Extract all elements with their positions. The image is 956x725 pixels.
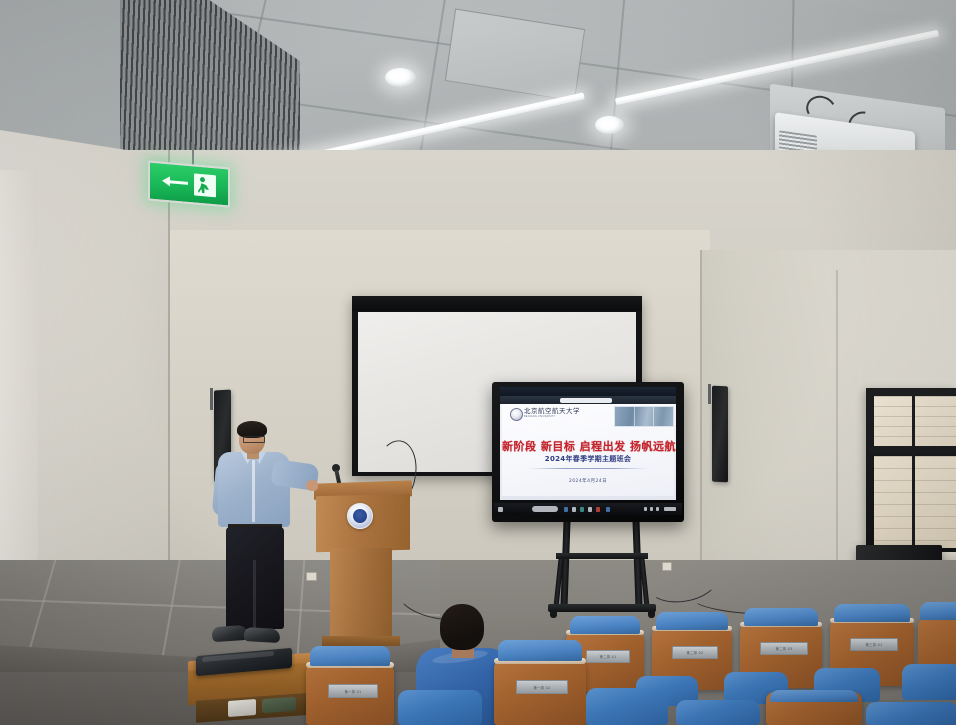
taskbar-app-icon[interactable] (588, 507, 592, 512)
seat-nameplate: 第三排 01 (850, 638, 898, 651)
seat-nameplate: 第二排 02 (672, 646, 718, 659)
tv-cart-caster (550, 610, 557, 618)
slide-title: 新阶段 新目标 启程出发 扬帆远航 (502, 438, 674, 454)
presenter-shoe-left (212, 625, 249, 642)
projection-screen-header-bar (352, 296, 642, 311)
seat-headrest (310, 646, 390, 666)
campus-photo-strip (614, 406, 674, 427)
exit-sign-hanger-rod (192, 118, 194, 166)
lecture-hall-photo: 北京航空航天大学 BEIHANG UNIVERSITY 新阶段 新目标 启程出发… (0, 0, 956, 725)
seat-headrest (920, 602, 956, 620)
presenter-shirt-placket (252, 460, 255, 522)
taskbar-clock[interactable] (664, 507, 676, 511)
seat-cushion[interactable] (586, 688, 668, 725)
slide-date: 2024年4月24日 (502, 478, 674, 484)
tv-cart-shelf (556, 553, 648, 559)
presenter-shoe-right (244, 627, 281, 643)
seat-nameplate-text: 第三排 01 (865, 642, 882, 647)
seat-headrest (744, 608, 818, 626)
shelf-box-item (228, 699, 256, 717)
university-emblem (347, 503, 373, 529)
wall-speaker-right (712, 386, 728, 483)
ceiling-downlight (385, 68, 416, 87)
speaker-bracket (708, 384, 711, 404)
seat-nameplate-text: 第二排 03 (775, 646, 792, 651)
seat-nameplate: 第一排 02 (516, 680, 568, 694)
presentation-toolbar[interactable] (500, 396, 676, 404)
slide-canvas: 北京航空航天大学 BEIHANG UNIVERSITY 新阶段 新目标 启程出发… (502, 404, 674, 496)
taskbar-app-icon[interactable] (580, 507, 584, 512)
tv-cart-caster (648, 610, 655, 618)
presenter-trouser-seam (253, 560, 256, 630)
seat-headrest (498, 640, 582, 661)
seat-nameplate: 第一排 01 (328, 684, 378, 698)
running-person-icon (194, 173, 216, 197)
seat-headrest (656, 612, 728, 630)
taskbar-app-icon[interactable] (606, 507, 610, 512)
university-name-cn: 北京航空航天大学 (524, 408, 594, 415)
shelf-bag-item (262, 697, 296, 713)
seat-nameplate: 第二排 03 (760, 642, 808, 655)
wall-power-outlet (306, 572, 317, 581)
tv-cart-base (548, 604, 656, 612)
lectern-base (322, 636, 400, 646)
seat-headrest (570, 616, 640, 634)
display-taskbar[interactable] (494, 503, 682, 515)
university-name-en: BEIHANG UNIVERSITY (524, 415, 594, 419)
seat-nameplate-text: 第二排 02 (686, 650, 703, 655)
glasses-icon (243, 436, 265, 443)
taskbar-tray-icon[interactable] (656, 507, 659, 511)
university-name-block: 北京航空航天大学 BEIHANG UNIVERSITY (524, 408, 594, 420)
taskbar-app-icon[interactable] (564, 507, 568, 512)
seat-cushion[interactable] (676, 700, 760, 725)
ceiling-downlight (595, 116, 624, 134)
lectern-column (330, 548, 392, 644)
wall-seam (700, 250, 702, 580)
university-logo-icon (510, 408, 523, 421)
taskbar-app-icon[interactable] (596, 507, 600, 512)
slide-divider (528, 468, 648, 469)
window-blinds-upper (874, 396, 956, 448)
window-blinds-lower (874, 456, 956, 548)
slide-subtitle: 2024年春季学期主题班会 (502, 454, 674, 464)
presenter-right-hand (306, 480, 318, 491)
seat-nameplate: 第二排 01 (586, 650, 630, 663)
display-screen[interactable]: 北京航空航天大学 BEIHANG UNIVERSITY 新阶段 新目标 启程出发… (500, 396, 676, 500)
audience-member-head (440, 604, 484, 650)
emergency-exit-sign (148, 160, 230, 207)
toolbar-search-pill[interactable] (560, 398, 612, 403)
wall-seam (836, 270, 838, 570)
seat-headrest (834, 604, 910, 622)
display-top-bezel (500, 387, 676, 396)
taskbar-start-icon[interactable] (498, 507, 503, 512)
taskbar-search-box[interactable] (532, 506, 558, 512)
seat-nameplate-text: 第一排 01 (344, 689, 361, 694)
seat-cushion[interactable] (902, 664, 956, 700)
window-mullion-vertical (912, 396, 915, 548)
seat-headrest (770, 690, 858, 702)
taskbar-tray-icon[interactable] (644, 507, 647, 511)
taskbar-tray-icon[interactable] (650, 507, 653, 511)
seat-cushion[interactable] (398, 690, 482, 725)
seat-nameplate-text: 第二排 01 (599, 654, 616, 659)
seat-cushion[interactable] (866, 702, 956, 725)
taskbar-app-icon[interactable] (572, 507, 576, 512)
seat-nameplate-text: 第一排 02 (533, 685, 550, 690)
speaker-bracket (210, 388, 213, 410)
left-arrow-icon (162, 176, 188, 188)
